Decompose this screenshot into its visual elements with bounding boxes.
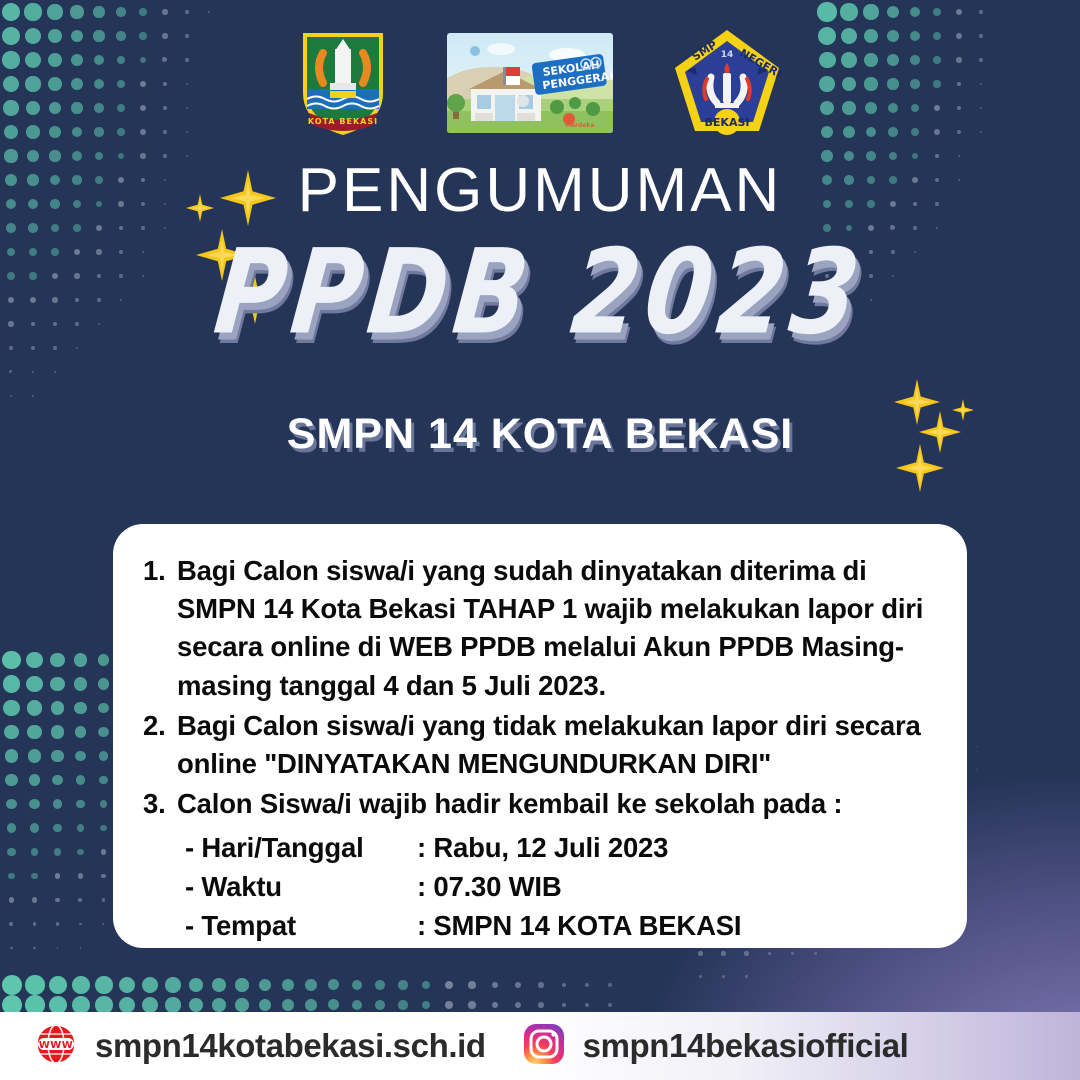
ppdb-title-wrap: PPDB 2023 — [0, 244, 1080, 364]
list-item: Calon Siswa/i wajib hadir kembail ke sek… — [139, 785, 941, 823]
logo-row: KOTA BEKASI — [0, 22, 1080, 144]
detail-label: - Tempat — [185, 906, 417, 945]
instagram-link[interactable]: smpn14bekasiofficial — [522, 1022, 909, 1071]
instagram-icon — [522, 1022, 566, 1071]
list-item: Bagi Calon siswa/i yang sudah dinyatakan… — [139, 552, 941, 705]
detail-row-place: - Tempat : SMPN 14 KOTA BEKASI — [185, 906, 941, 945]
event-detail-list: - Hari/Tanggal : Rabu, 12 Juli 2023 - Wa… — [139, 828, 941, 945]
svg-text:14: 14 — [721, 50, 734, 60]
poster-canvas: KOTA BEKASI — [0, 0, 1080, 1080]
svg-text:Merdeka: Merdeka — [565, 122, 594, 129]
school-subtitle: SMPN 14 KOTA BEKASI — [0, 410, 1080, 459]
www-globe-icon: WWW — [34, 1022, 78, 1071]
sekolah-penggerak-banner: SEKOLAH PENGGERAK Merdeka — [447, 33, 613, 133]
svg-text:BEKASI: BEKASI — [705, 116, 750, 129]
headline-block: PENGUMUMAN PPDB 2023 SMPN 14 KOTA BEKASI — [0, 160, 1080, 459]
detail-label: - Waktu — [185, 867, 417, 906]
list-item: Bagi Calon siswa/i yang tidak melakukan … — [139, 707, 941, 783]
notice-list: Bagi Calon siswa/i yang sudah dinyatakan… — [139, 552, 941, 824]
detail-row-time: - Waktu : 07.30 WIB — [185, 867, 941, 906]
detail-value: : 07.30 WIB — [417, 867, 941, 906]
svg-text:KOTA BEKASI: KOTA BEKASI — [308, 117, 378, 126]
detail-value: : Rabu, 12 Juli 2023 — [417, 828, 941, 867]
website-link[interactable]: WWW smpn14kotabekasi.sch.id — [34, 1022, 486, 1071]
instagram-handle: smpn14bekasiofficial — [583, 1027, 909, 1065]
smpn-14-bekasi-logo: SMP NEGERI 14 BEKASI — [671, 27, 783, 139]
detail-row-date: - Hari/Tanggal : Rabu, 12 Juli 2023 — [185, 828, 941, 867]
kota-bekasi-emblem: KOTA BEKASI — [297, 27, 389, 139]
svg-text:WWW: WWW — [39, 1040, 74, 1051]
detail-label: - Hari/Tanggal — [185, 828, 417, 867]
footer-bar: WWW smpn14kotabekasi.sch.id — [0, 1012, 1080, 1080]
announcement-kicker: PENGUMUMAN — [0, 160, 1080, 222]
detail-value: : SMPN 14 KOTA BEKASI — [417, 906, 941, 945]
page-title: PPDB 2023 — [210, 233, 870, 350]
website-url: smpn14kotabekasi.sch.id — [95, 1027, 486, 1065]
notice-card: Bagi Calon siswa/i yang sudah dinyatakan… — [113, 524, 967, 948]
